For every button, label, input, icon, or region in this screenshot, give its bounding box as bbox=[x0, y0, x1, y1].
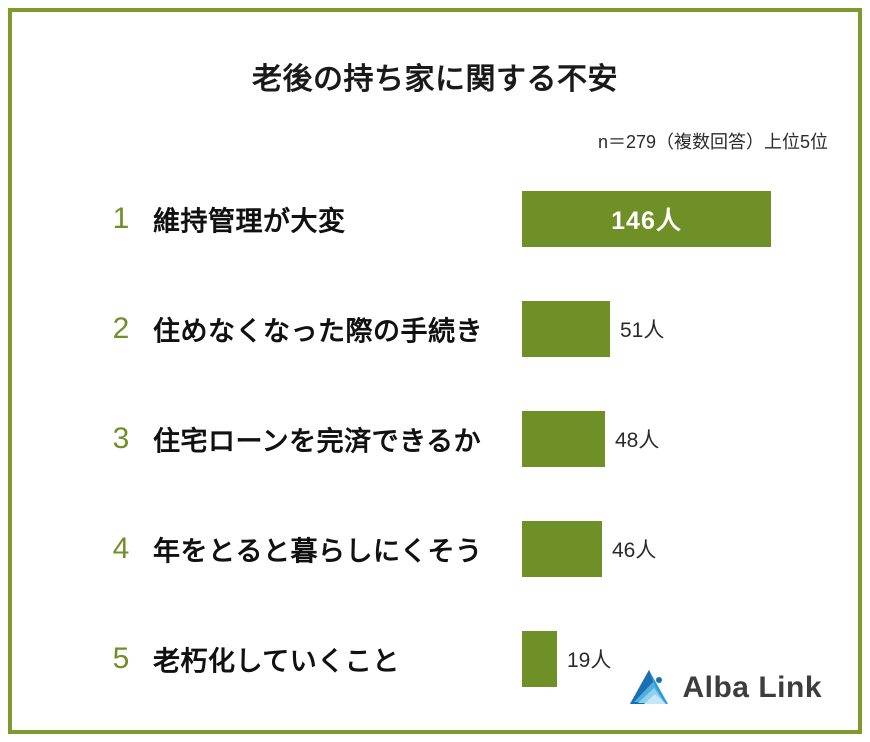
alba-link-logo: Alba Link bbox=[628, 668, 822, 708]
chart-row: 3 住宅ローンを完済できるか 48人 bbox=[12, 384, 858, 494]
bar bbox=[522, 301, 610, 357]
bar-value-label: 46人 bbox=[612, 534, 656, 564]
rank-number: 4 bbox=[108, 532, 134, 566]
sample-size-note: n＝279（複数回答）上位5位 bbox=[598, 128, 828, 154]
bar bbox=[522, 521, 602, 577]
bar: 146人 bbox=[522, 191, 771, 247]
bar-chart-rows: 1 維持管理が大変 146人 2 住めなくなった際の手続き 51人 3 住宅ロー… bbox=[12, 164, 858, 714]
category-label: 住宅ローンを完済できるか bbox=[153, 420, 481, 459]
page-title: 老後の持ち家に関する不安 bbox=[12, 54, 858, 98]
chart-frame: 老後の持ち家に関する不安 n＝279（複数回答）上位5位 1 維持管理が大変 1… bbox=[8, 8, 862, 734]
bar-value-label: 48人 bbox=[615, 424, 659, 454]
bar-value-label: 51人 bbox=[620, 314, 664, 344]
bar-value-label: 19人 bbox=[567, 644, 611, 674]
bar-area: 19人 bbox=[522, 631, 611, 687]
rank-number: 2 bbox=[108, 312, 134, 346]
triangle-logo-icon bbox=[628, 668, 670, 708]
chart-row: 1 維持管理が大変 146人 bbox=[12, 164, 858, 274]
rank-number: 1 bbox=[108, 202, 134, 236]
category-label: 年をとると暮らしにくそう bbox=[153, 530, 482, 569]
bar-value-label: 146人 bbox=[611, 201, 682, 237]
rank-number: 5 bbox=[108, 642, 134, 676]
category-label: 維持管理が大変 bbox=[153, 200, 346, 239]
bar bbox=[522, 631, 557, 687]
logo-text: Alba Link bbox=[682, 671, 822, 705]
chart-row: 4 年をとると暮らしにくそう 46人 bbox=[12, 494, 858, 604]
bar-area: 51人 bbox=[522, 301, 664, 357]
bar bbox=[522, 411, 605, 467]
bar-area: 146人 bbox=[522, 191, 771, 247]
chart-row: 2 住めなくなった際の手続き 51人 bbox=[12, 274, 858, 384]
category-label: 住めなくなった際の手続き bbox=[153, 310, 483, 349]
rank-number: 3 bbox=[108, 422, 134, 456]
category-label: 老朽化していくこと bbox=[153, 640, 400, 679]
bar-area: 48人 bbox=[522, 411, 659, 467]
bar-area: 46人 bbox=[522, 521, 656, 577]
